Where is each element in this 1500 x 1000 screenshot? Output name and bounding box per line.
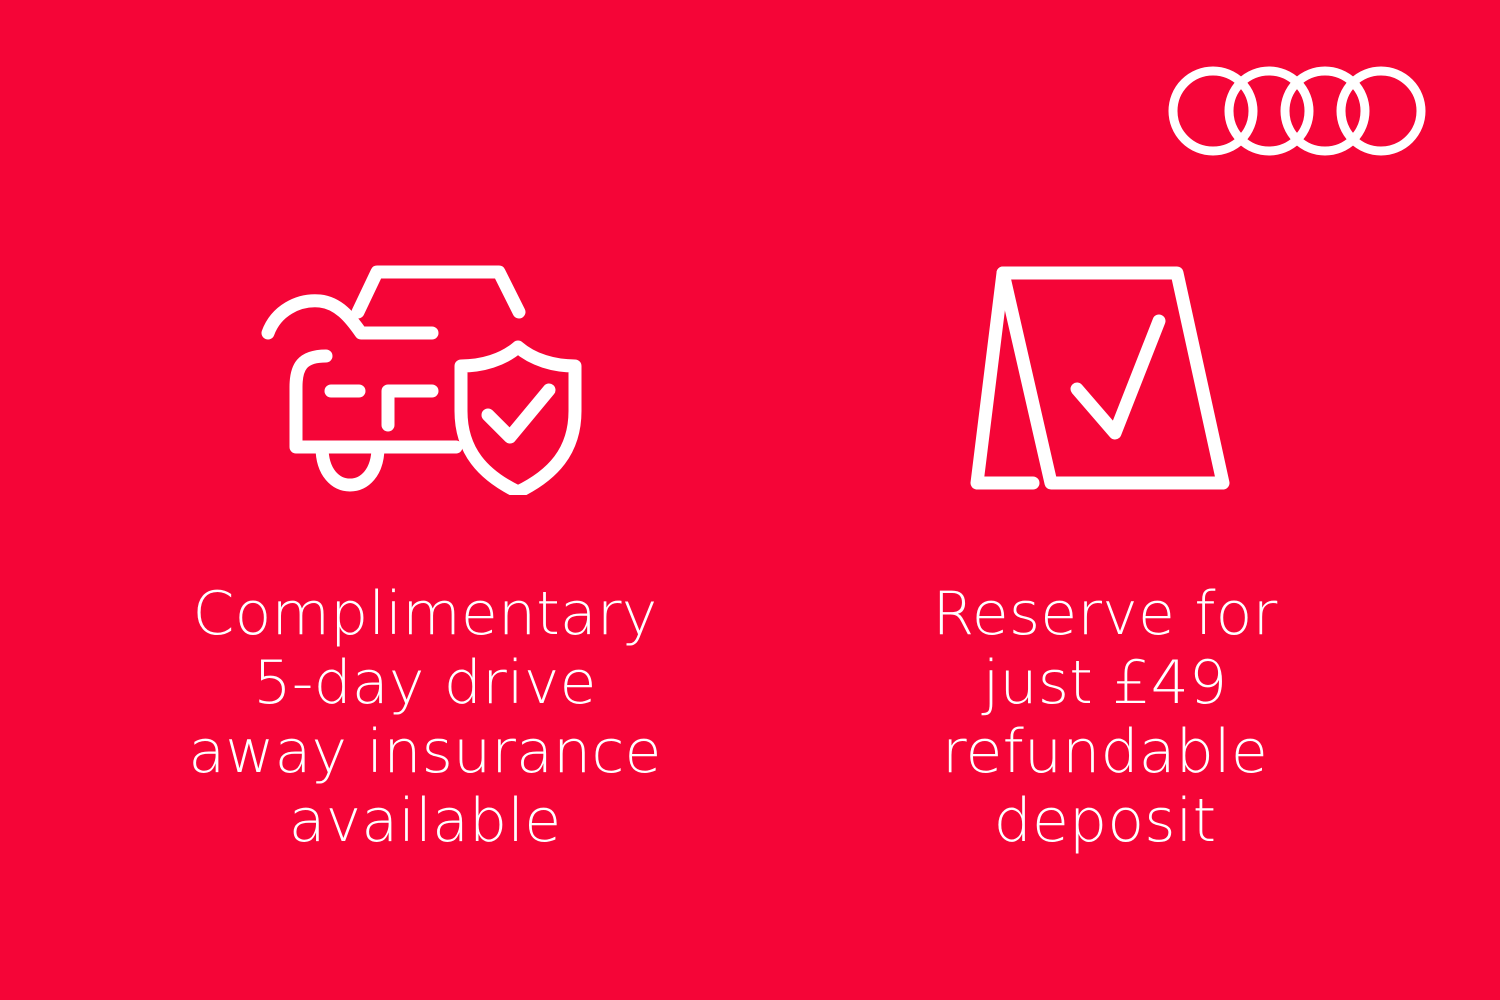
audi-rings-logo bbox=[1168, 62, 1430, 160]
tent-card-check-icon bbox=[955, 255, 1255, 495]
audi-four-rings-icon bbox=[1168, 62, 1430, 160]
feature-insurance: Complimentary 5-day drive away insurance… bbox=[80, 240, 770, 856]
car-shield-icon-wrap bbox=[260, 240, 590, 510]
feature-deposit-caption: Reserve for just £49 refundable deposit bbox=[933, 580, 1278, 856]
tent-card-check-icon-wrap bbox=[955, 240, 1255, 510]
feature-insurance-caption: Complimentary 5-day drive away insurance… bbox=[188, 580, 661, 856]
promo-banner: Complimentary 5-day drive away insurance… bbox=[0, 0, 1500, 1000]
car-shield-icon bbox=[260, 255, 590, 495]
feature-deposit: Reserve for just £49 refundable deposit bbox=[790, 240, 1420, 856]
